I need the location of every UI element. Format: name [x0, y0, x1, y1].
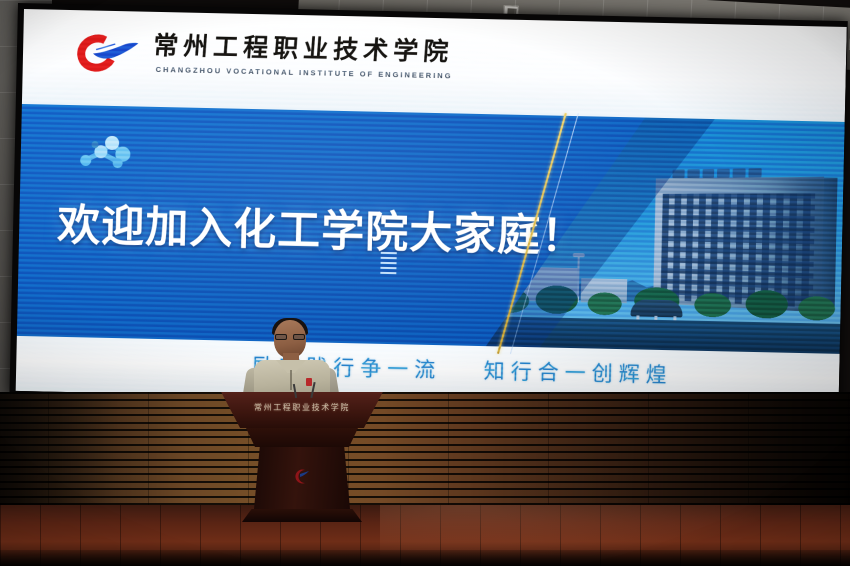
institute-emblem-icon	[292, 468, 310, 485]
led-screen: 常州工程职业技术学院 CHANGZHOU VOCATIONAL INSTITUT…	[16, 9, 847, 409]
podium-base	[242, 509, 362, 522]
molecule-icon	[76, 133, 139, 172]
slogan-right: 知行合一创辉煌	[483, 359, 672, 387]
slide-body: 欢迎加入化工学院大家庭！	[17, 104, 845, 354]
presenter-badge	[306, 378, 312, 386]
slide-header: 常州工程职业技术学院 CHANGZHOU VOCATIONAL INSTITUT…	[22, 9, 847, 122]
university-name-block: 常州工程职业技术学院 CHANGZHOU VOCATIONAL INSTITUT…	[153, 34, 454, 80]
wall-shading	[0, 392, 850, 517]
podium-name-plate: 常州工程职业技术学院	[216, 402, 388, 413]
stage-floor	[0, 505, 850, 566]
university-name-cn: 常州工程职业技术学院	[152, 34, 454, 67]
university-name-en: CHANGZHOU VOCATIONAL INSTITUTE OF ENGINE…	[156, 65, 453, 80]
title-decor-ticks	[380, 252, 397, 276]
slide-header-content: 常州工程职业技术学院 CHANGZHOU VOCATIONAL INSTITUT…	[77, 32, 454, 80]
changzhou-institute-logo-icon	[77, 32, 140, 73]
slide-main-title: 欢迎加入化工学院大家庭！	[57, 191, 586, 265]
logo-blue-swoosh-icon	[93, 42, 138, 62]
screenshot-root: 常州工程职业技术学院 CHANGZHOU VOCATIONAL INSTITUT…	[0, 0, 850, 566]
podium-neck	[246, 428, 358, 447]
wood-slat-wall	[0, 392, 850, 517]
presenter-shirt-placket	[290, 370, 292, 390]
podium: 常州工程职业技术学院	[216, 392, 388, 522]
floor-front-edge	[0, 550, 850, 566]
eyeglasses-icon	[275, 334, 305, 340]
